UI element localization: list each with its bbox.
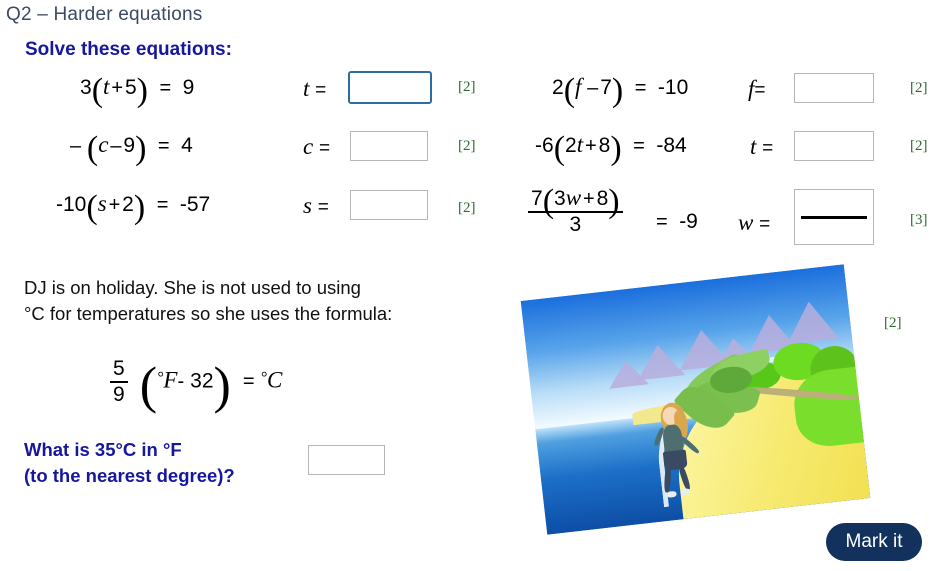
story-marks: [2] [884, 315, 902, 332]
eq-t2-open-paren: ( [554, 130, 565, 167]
question-text: What is 35°C in °F (to the nearest degre… [24, 437, 324, 489]
eq-s-inner-op: + [109, 194, 121, 216]
eq-f-open-paren: ( [564, 72, 575, 109]
eq-t1-rhs: 9 [183, 76, 195, 99]
eq-s-answer-var: s [303, 193, 312, 218]
eq-f-answer-label: f= [748, 76, 766, 102]
eq-s-answer-equals: = [318, 197, 329, 218]
eq-s-rhs: -57 [180, 193, 210, 216]
eq-c-answer-var: c [303, 134, 313, 159]
eq-t1-answer-equals: = [315, 80, 326, 101]
eq-s-answer-label: s = [303, 193, 329, 219]
story-text: DJ is on holiday. She is not used to usi… [24, 275, 504, 327]
eq-f-inner-num: 7 [600, 76, 612, 99]
formula-var-c: C [267, 368, 282, 393]
eq-t2-marks: [2] [910, 138, 928, 155]
girl-leg-back [664, 467, 671, 494]
eq-w-rhs-group: = -9 [656, 208, 698, 234]
conversion-formula: 5 9 (°F- 32) = °C [110, 358, 282, 406]
eq-t1-inner-op: + [111, 77, 123, 99]
eq-w-close-paren: ) [608, 183, 619, 220]
girl-figure [644, 400, 706, 499]
eq-t2-rhs: -84 [656, 134, 686, 157]
girl-leg-front [677, 465, 691, 492]
eq-c-inner-num: 9 [123, 134, 135, 157]
eq-t2-answer-label: t = [750, 134, 773, 160]
formula-frac-bottom: 9 [110, 383, 128, 406]
eq-c-open-paren: ( [87, 130, 98, 167]
eq-s-marks: [2] [458, 200, 476, 217]
eq-w-marks: [3] [910, 212, 928, 229]
eq-t2-var: t [577, 132, 583, 157]
eq-s-open-paren: ( [86, 189, 97, 226]
eq-f-var: f [575, 74, 581, 99]
eq-w-var: w [566, 185, 581, 210]
eq-t2-answer-var: t [750, 134, 756, 159]
equation-w: 7(3w + 8) 3 [528, 186, 623, 236]
eq-t1-marks: [2] [458, 79, 476, 96]
eq-w-numerator: 7(3w + 8) [528, 186, 623, 211]
eq-c-close-paren: ) [135, 130, 146, 167]
mark-it-button[interactable]: Mark it [826, 523, 922, 561]
eq-f-answer-input[interactable] [794, 73, 874, 103]
eq-t1-answer-label: t = [303, 76, 326, 102]
equation-t1: 3(t + 5) = 9 [80, 74, 194, 100]
equation-t2: -6(2t + 8) = -84 [535, 132, 687, 158]
formula-frac-top: 5 [110, 358, 128, 381]
eq-c-answer-equals: = [319, 138, 330, 159]
formula-var-f: F [163, 368, 177, 393]
eq-t1-coeff: 3 [80, 76, 92, 99]
eq-c-coeff: – [70, 135, 81, 157]
eq-c-var: c [98, 132, 108, 157]
formula-minus: - [177, 371, 184, 393]
eq-t2-answer-input[interactable] [794, 131, 874, 161]
eq-t2-inner-num: 8 [599, 134, 611, 157]
eq-f-answer-equals: = [754, 80, 765, 101]
eq-w-inner-coeff: 3 [554, 187, 566, 210]
formula-open-paren: ( [140, 358, 157, 415]
eq-t1-inner-num: 5 [125, 76, 137, 99]
eq-w-answer-equals: = [759, 214, 770, 235]
section-heading: Solve these equations: [25, 39, 232, 61]
eq-f-equals: = [635, 77, 647, 99]
eq-t2-inner-op: + [585, 135, 597, 157]
eq-w-answer-label: w = [738, 210, 770, 236]
equation-c: – (c – 9) = 4 [70, 132, 193, 158]
formula-fraction: 5 9 [110, 358, 128, 406]
eq-w-fraction: 7(3w + 8) 3 [528, 186, 623, 236]
beach-illustration [521, 264, 871, 534]
eq-t1-close-paren: ) [137, 72, 148, 109]
equation-s: -10(s + 2) = -57 [56, 191, 210, 217]
eq-w-inner-num: 8 [597, 187, 609, 210]
eq-t1-equals: = [159, 77, 171, 99]
eq-c-marks: [2] [458, 138, 476, 155]
eq-w-answer-var: w [738, 210, 753, 235]
eq-c-rhs: 4 [181, 134, 193, 157]
page-title: Q2 – Harder equations [6, 4, 202, 26]
story-line-1: DJ is on holiday. She is not used to usi… [24, 275, 504, 301]
eq-s-coeff: -10 [56, 193, 86, 216]
eq-f-inner-op: – [587, 77, 598, 99]
formula-equals: = [243, 371, 255, 393]
eq-t2-inner-coeff: 2 [565, 134, 577, 157]
question-answer-input[interactable] [308, 445, 385, 475]
eq-s-var: s [98, 191, 107, 216]
formula-close-paren: ) [214, 358, 231, 415]
eq-w-open-paren: ( [543, 183, 554, 220]
eq-t1-open-paren: ( [92, 72, 103, 109]
eq-w-answer-input[interactable] [794, 189, 874, 245]
eq-t2-equals: = [633, 135, 645, 157]
eq-t2-close-paren: ) [610, 130, 621, 167]
eq-t1-answer-input[interactable] [348, 71, 432, 104]
eq-t1-answer-var: t [303, 76, 309, 101]
eq-w-num-coeff: 7 [531, 187, 543, 210]
answer-fraction-bar [801, 216, 867, 219]
eq-w-inner-op: + [583, 188, 595, 210]
eq-f-coeff: 2 [552, 76, 564, 99]
beach-photo [521, 264, 871, 534]
eq-c-answer-input[interactable] [350, 131, 428, 161]
mountain-6 [783, 299, 839, 345]
question-line-2: (to the nearest degree)? [24, 463, 324, 489]
eq-t1-var: t [103, 74, 109, 99]
story-line-2: °C for temperatures so she uses the form… [24, 301, 504, 327]
eq-s-inner-num: 2 [122, 193, 134, 216]
formula-32: 32 [190, 370, 213, 393]
eq-s-equals: = [157, 194, 169, 216]
eq-t2-coeff: -6 [535, 134, 554, 157]
girl-shoe-front [680, 488, 691, 496]
eq-t2-answer-equals: = [762, 138, 773, 159]
equation-f: 2(f – 7) = -10 [552, 74, 688, 100]
eq-f-rhs: -10 [658, 76, 688, 99]
eq-w-rhs: -9 [679, 210, 698, 233]
eq-f-marks: [2] [910, 80, 928, 97]
eq-s-answer-input[interactable] [350, 190, 428, 220]
question-line-1: What is 35°C in °F [24, 437, 324, 463]
eq-c-answer-label: c = [303, 134, 330, 160]
eq-w-equals: = [656, 211, 668, 233]
eq-c-inner-op: – [110, 135, 121, 157]
eq-f-close-paren: ) [612, 72, 623, 109]
eq-s-close-paren: ) [134, 189, 145, 226]
eq-c-equals: = [158, 135, 170, 157]
